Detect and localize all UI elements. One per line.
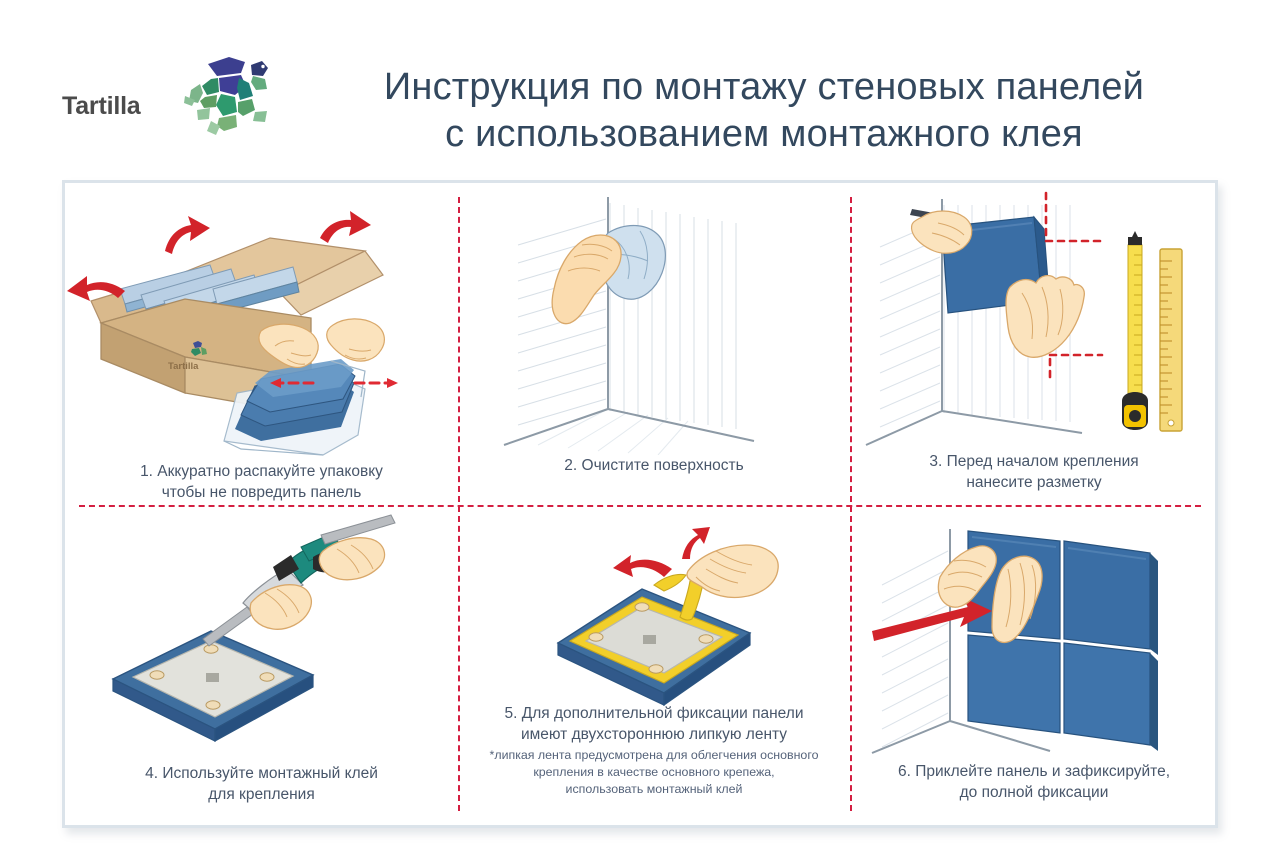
page-title-line1: Инструкция по монтажу стеновых панелей [384, 66, 1144, 108]
step-2-caption: 2. Очистите поверхность [458, 455, 850, 476]
step-4-caption-line2: для крепления [65, 784, 458, 805]
step-4-caption: 4. Используйте монтажный клей для крепле… [65, 763, 458, 805]
step-5-caption-line1: 5. Для дополнительной фиксации панели [458, 703, 850, 724]
step-6-illustration [850, 507, 1218, 765]
step-1-caption-line2: чтобы не повредить панель [65, 482, 458, 503]
step-6-caption-line1: 6. Приклейте панель и зафиксируйте, [850, 761, 1218, 782]
step-3-caption-line2: нанесите разметку [850, 472, 1218, 493]
instruction-panel-frame: Tartilla [62, 180, 1218, 828]
step-1-caption-line1: 1. Аккуратно распакуйте упаковку [65, 461, 458, 482]
box-logo-text: Tartilla [168, 361, 199, 372]
brand-name: Tartilla [62, 92, 141, 121]
page-title: Инструкция по монтажу стеновых панелей с… [290, 64, 1238, 158]
step-5-illustration [458, 507, 850, 719]
step-5-footnote: *липкая лента предусмотрена для облегчен… [458, 747, 850, 798]
step-3-illustration [850, 183, 1218, 455]
turtle-logo-icon [183, 48, 275, 140]
step-5: 5. Для дополнительной фиксации панели им… [458, 507, 850, 828]
step-5-caption: 5. Для дополнительной фиксации панели им… [458, 703, 850, 745]
step-5-footnote-line2: крепления в качестве основного крепежа, [458, 764, 850, 781]
step-5-caption-line2: имеют двухстороннюю липкую ленту [458, 724, 850, 745]
step-3-caption-line1: 3. Перед началом крепления [850, 451, 1218, 472]
step-2: 2. Очистите поверхность [458, 183, 850, 505]
step-6-caption-line2: до полной фиксации [850, 782, 1218, 803]
step-4: 4. Используйте монтажный клей для крепле… [65, 507, 458, 828]
page-title-line2: с использованием монтажного клея [290, 111, 1238, 158]
step-4-illustration [65, 507, 458, 769]
step-3: 3. Перед началом крепления нанесите разм… [850, 183, 1218, 505]
step-5-footnote-line1: *липкая лента предусмотрена для облегчен… [458, 747, 850, 764]
step-2-illustration [458, 183, 850, 455]
step-1-illustration: Tartilla [65, 183, 458, 465]
step-6-caption: 6. Приклейте панель и зафиксируйте, до п… [850, 761, 1218, 803]
step-1-caption: 1. Аккуратно распакуйте упаковку чтобы н… [65, 461, 458, 503]
step-2-caption-line1: 2. Очистите поверхность [458, 455, 850, 476]
step-3-caption: 3. Перед началом крепления нанесите разм… [850, 451, 1218, 493]
step-4-caption-line1: 4. Используйте монтажный клей [65, 763, 458, 784]
step-1: Tartilla [65, 183, 458, 505]
page-header: Tartilla Инструкция по монтажу стен [0, 0, 1280, 178]
step-5-footnote-line3: использовать монтажный клей [458, 781, 850, 798]
step-6: 6. Приклейте панель и зафиксируйте, до п… [850, 507, 1218, 828]
